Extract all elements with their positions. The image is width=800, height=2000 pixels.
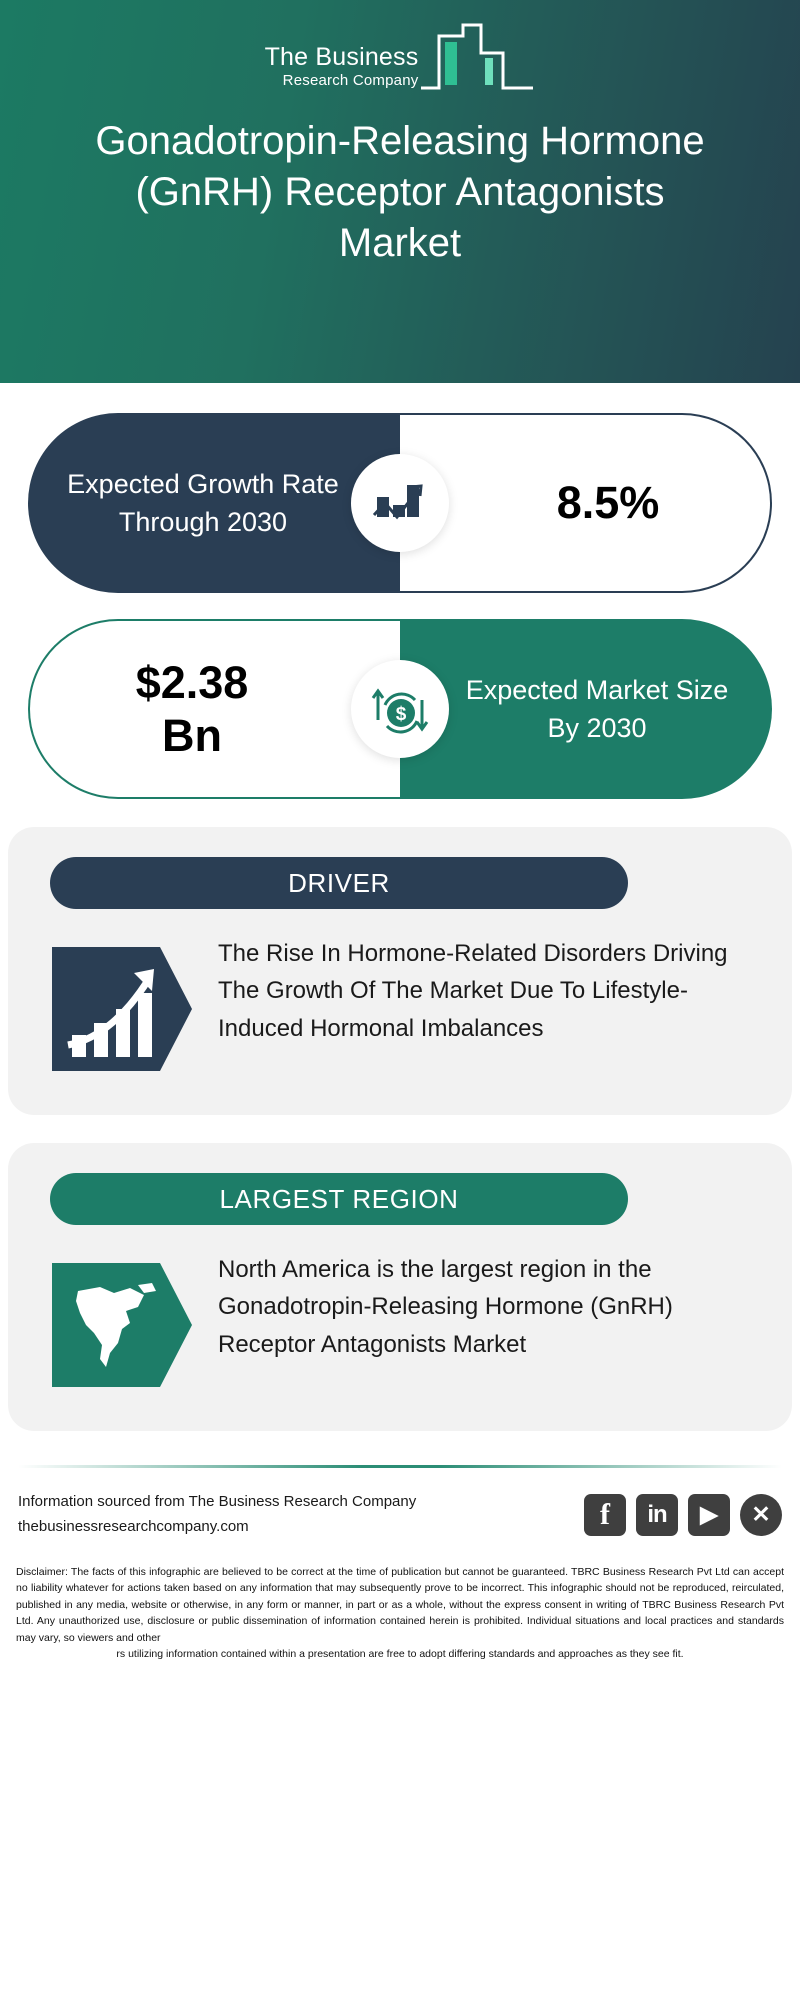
logo-bar-chart-icon xyxy=(419,22,535,94)
stat-card-growth-rate: Expected Growth Rate Through 2030 8.5% xyxy=(28,413,772,593)
driver-text: The Rise In Hormone-Related Disorders Dr… xyxy=(218,935,758,1047)
stat-label-text: Expected Market Size By 2030 xyxy=(400,671,772,748)
driver-body: The Rise In Hormone-Related Disorders Dr… xyxy=(42,935,758,1079)
facebook-icon[interactable]: f xyxy=(584,1494,626,1536)
stat-label-panel: Expected Growth Rate Through 2030 xyxy=(28,413,400,593)
stats-section: Expected Growth Rate Through 2030 8.5% $… xyxy=(0,413,800,799)
stat-value-line-1: $2.38 xyxy=(136,656,249,709)
disclaimer-main: Disclaimer: The facts of this infographi… xyxy=(16,1566,784,1644)
driver-heading: DRIVER xyxy=(50,857,628,909)
north-america-map-icon xyxy=(52,1255,192,1395)
stat-value-text: 8.5% xyxy=(511,476,660,529)
footer-section: Information sourced from The Business Re… xyxy=(0,1468,800,1540)
youtube-icon[interactable]: ▶ xyxy=(688,1494,730,1536)
hero-section: The Business Research Company Gonadotrop… xyxy=(0,0,800,383)
disclaimer: Disclaimer: The facts of this infographi… xyxy=(16,1564,784,1663)
largest-region-heading: LARGEST REGION xyxy=(50,1173,628,1225)
youtube-glyph: ▶ xyxy=(700,1503,718,1526)
source-credit: Information sourced from The Business Re… xyxy=(18,1490,416,1540)
source-line-2[interactable]: thebusinessresearchcompany.com xyxy=(18,1515,416,1540)
largest-region-text: North America is the largest region in t… xyxy=(218,1251,758,1363)
bar-chart-growth-icon xyxy=(351,454,449,552)
stat-card-market-size: $2.38 Bn Expected Market Size By 2030 $ xyxy=(28,619,772,799)
dollar-cycle-icon: $ xyxy=(351,660,449,758)
svg-text:$: $ xyxy=(396,704,407,725)
x-twitter-icon[interactable]: ✕ xyxy=(740,1494,782,1536)
logo-line-2: Research Company xyxy=(283,73,419,88)
largest-region-body: North America is the largest region in t… xyxy=(42,1251,758,1395)
stat-value-panel: 8.5% xyxy=(400,413,772,593)
company-logo: The Business Research Company xyxy=(265,22,536,94)
stat-value-text: $2.38 Bn xyxy=(136,656,295,762)
logo-line-1: The Business xyxy=(265,45,419,70)
social-links: f in ▶ ✕ xyxy=(584,1494,782,1536)
stat-value-line-2: Bn xyxy=(136,709,249,762)
stat-value-panel: $2.38 Bn xyxy=(28,619,400,799)
x-twitter-glyph: ✕ xyxy=(751,1503,770,1526)
largest-region-panel: LARGEST REGION North America is the larg… xyxy=(8,1143,792,1431)
disclaimer-last-line: rs utilizing information contained withi… xyxy=(16,1646,784,1663)
infographic-page: The Business Research Company Gonadotrop… xyxy=(0,0,800,2000)
bar-chart-arrow-icon xyxy=(52,939,192,1079)
linkedin-icon[interactable]: in xyxy=(636,1494,678,1536)
linkedin-glyph: in xyxy=(647,1503,666,1527)
stat-label-text: Expected Growth Rate Through 2030 xyxy=(28,465,400,542)
stat-label-panel: Expected Market Size By 2030 xyxy=(400,619,772,799)
source-line-1: Information sourced from The Business Re… xyxy=(18,1490,416,1515)
driver-panel: DRIVER The Rise In Hormone-Related Disor… xyxy=(8,827,792,1115)
facebook-glyph: f xyxy=(600,1500,610,1530)
logo-wordmark: The Business Research Company xyxy=(265,45,419,94)
page-title: Gonadotropin-Releasing Hormone (GnRH) Re… xyxy=(80,116,720,270)
